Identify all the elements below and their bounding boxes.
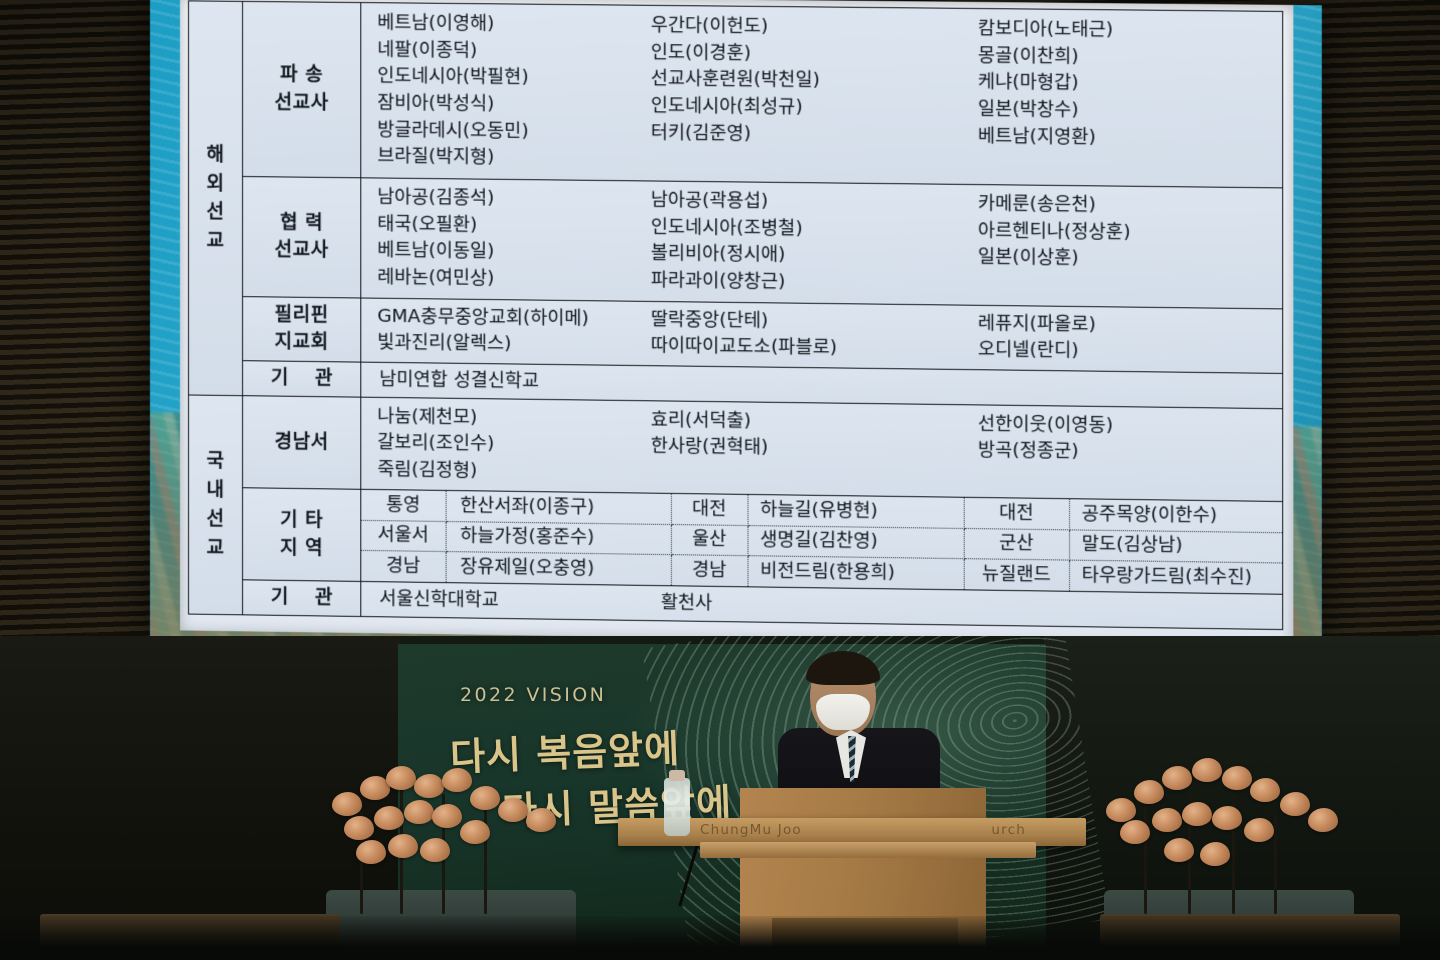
category-line-2: 선교사 — [275, 239, 329, 262]
list-item: 일본(이상훈) — [978, 245, 1282, 275]
name-column-1: 베트남(이영해) 네팔(이종덕) 인도네시아(박필현) 잠비아(박성식) 방글라… — [361, 10, 642, 173]
region-cell: 군산 — [964, 528, 1069, 560]
region-cell: 경남 — [361, 551, 445, 582]
philippine-branch-names: GMA충무중앙교회(하이메) 빛과진리(알렉스) 딸락중앙(단테) 따이따이교도… — [361, 298, 1283, 374]
list-item: 딸락중앙(단테) — [651, 307, 946, 337]
name-column-2: 남아공(곽용섭) 인도네시아(조병철) 볼리비아(정시애) 파라과이(양창근) — [643, 187, 946, 297]
face-mask-icon — [816, 694, 870, 730]
mission-table: 해 외 선 교 파 송 선교사 — [188, 0, 1283, 630]
mission-table-wrapper: 해 외 선 교 파 송 선교사 — [188, 0, 1283, 630]
list-item: 효리(서덕출) — [651, 407, 946, 437]
region-cell: 대전 — [671, 494, 748, 525]
list-item: 인도네시아(박필현) — [377, 64, 642, 93]
category-line-1: 파 송 — [280, 64, 323, 86]
name-column-3: 캄보디아(노태근) 몽골(이찬희) 케냐(마형갑) 일본(박창수) 베트남(지영… — [946, 16, 1283, 180]
partner-missionary-names: 남아공(김종석) 태국(오필환) 베트남(이동일) 레바논(여민상) 남아공(곽… — [361, 178, 1283, 309]
list-item: 방글라데시(오동민) — [377, 117, 642, 146]
sent-missionary-names: 베트남(이영해) 네팔(이종덕) 인도네시아(박필현) 잠비아(박성식) 방글라… — [361, 3, 1283, 188]
group-label-domestic: 국 내 선 교 — [189, 395, 243, 615]
church-cell: 공주목양(이한수) — [1069, 499, 1282, 532]
category-line-2: 지교회 — [275, 331, 329, 354]
category-gyeongnamseo: 경남서 — [243, 396, 361, 490]
church-cell: 하늘가정(홍준수) — [446, 521, 671, 555]
list-item: 파라과이(양창근) — [651, 268, 946, 298]
list-item: 베트남(이영해) — [377, 10, 642, 39]
church-cell: 하늘길(유병현) — [748, 495, 964, 528]
table-row: 국 내 선 교 경남서 나눔(제천모) — [189, 395, 1283, 502]
name-column-1: 나눔(제천모) 갈보리(조인수) 죽림(김정형) — [361, 403, 642, 487]
region-cell: 뉴질랜드 — [964, 559, 1069, 591]
list-item: 일본(박창수) — [978, 96, 1282, 126]
list-item: 네팔(이종덕) — [377, 37, 642, 66]
category-institution-domestic: 기 관 — [243, 580, 361, 617]
list-item: 나눔(제천모) — [377, 403, 642, 433]
list-item: 우간다(이헌도) — [651, 13, 946, 43]
church-cell: 장유제일(오충영) — [446, 552, 671, 585]
list-item: 인도네시아(조병철) — [651, 214, 946, 244]
church-cell: 타우랑가드림(최수진) — [1069, 560, 1282, 593]
church-cell: 말도(김상남) — [1069, 530, 1282, 564]
podium-label-left: ChungMu Joo — [700, 822, 802, 838]
speaker-hair — [806, 651, 880, 685]
name-column-1: GMA충무중앙교회(하이메) 빛과진리(알렉스) — [361, 303, 642, 360]
list-item: 카메룬(송은천) — [978, 191, 1282, 221]
category-line-2: 지 역 — [280, 536, 323, 559]
list-item: 캄보디아(노태근) — [978, 16, 1282, 46]
list-item: 인도(이경훈) — [651, 40, 946, 70]
group-label-domestic-l4: 교 — [189, 533, 242, 563]
banner-vision-text: 2022 VISION — [460, 684, 606, 706]
name-column-3: 레퓨지(파올로) 오디넬(란디) — [946, 310, 1283, 368]
list-item: 한사랑(권혁태) — [651, 434, 946, 465]
list-item: 인도네시아(최성규) — [651, 93, 946, 123]
list-item: 죽림(김정형) — [377, 457, 642, 487]
name-column-2: 효리(서덕출) 한사랑(권혁태) — [643, 407, 946, 491]
list-item: 레퓨지(파올로) — [978, 311, 1282, 341]
category-line-1: 협 력 — [280, 211, 323, 234]
category-line-1: 기 타 — [280, 509, 323, 532]
group-label-overseas-l3: 선 — [189, 198, 242, 227]
church-cell: 생명길(김찬영) — [748, 525, 964, 559]
list-item: 잠비아(박성식) — [377, 90, 642, 119]
category-institution-overseas: 기 관 — [243, 361, 361, 397]
list-item: 활천사 — [661, 591, 1282, 624]
category-line-2: 선교사 — [275, 91, 329, 114]
list-item: 태국(오필환) — [377, 211, 642, 241]
list-item: 오디넬(란디) — [978, 337, 1282, 367]
category-line-1: 경남서 — [275, 430, 329, 453]
table-row: 협 력 선교사 남아공(김종석) 태국(오필환) 베트남(이동일) 레바논( — [189, 176, 1283, 309]
name-column-2: 딸락중앙(단테) 따이따이교도소(파블로) — [643, 307, 946, 364]
region-cell: 대전 — [964, 498, 1069, 530]
water-bottle — [664, 778, 690, 836]
list-item: 선교사훈련원(박천일) — [651, 66, 946, 96]
projection-screen: 해 외 선 교 파 송 선교사 — [150, 0, 1322, 659]
group-label-domestic-l1: 국 — [189, 447, 242, 477]
list-item: 남아공(김종석) — [377, 185, 642, 215]
water-bottle-cap — [669, 770, 685, 781]
list-item: 빛과진리(알렉스) — [377, 330, 642, 360]
list-item: 선한이웃(이영동) — [978, 411, 1282, 442]
list-item: 볼리비아(정시애) — [651, 241, 946, 271]
screenshot-root: 해 외 선 교 파 송 선교사 — [0, 0, 1440, 960]
slide-content-area: 해 외 선 교 파 송 선교사 — [180, 0, 1293, 646]
name-column-1: 남아공(김종석) 태국(오필환) 베트남(이동일) 레바논(여민상) — [361, 184, 642, 294]
other-regions-subgrid: 통영 한산서좌(이종구) 대전 하늘길(유병현) 대전 공주목양(이한수) — [361, 489, 1283, 594]
list-item: 레바논(여민상) — [377, 264, 642, 294]
other-regions-table: 통영 한산서좌(이종구) 대전 하늘길(유병현) 대전 공주목양(이한수) — [361, 490, 1282, 594]
group-label-domestic-l2: 내 — [189, 476, 242, 506]
name-column-2: 우간다(이헌도) 인도(이경훈) 선교사훈련원(박천일) 인도네시아(최성규) … — [643, 13, 946, 176]
list-item: 방곡(정종군) — [978, 438, 1282, 469]
church-cell: 비전드림(한용희) — [748, 556, 964, 589]
group-label-overseas-l1: 해 — [189, 140, 242, 169]
list-item: 남아공(곽용섭) — [651, 188, 946, 218]
group-label-overseas: 해 외 선 교 — [189, 1, 243, 396]
list-item: 케냐(마형갑) — [978, 70, 1282, 100]
stage-area: 2022 VISION 다시 복음앞에 다시 말씀앞에 ChungMu Joo … — [0, 636, 1440, 960]
list-item: 남미연합 성결신학교 — [379, 369, 539, 392]
list-item: 베트남(이동일) — [377, 238, 642, 268]
list-item: 갈보리(조인수) — [377, 430, 642, 460]
group-label-overseas-l2: 외 — [189, 169, 242, 198]
list-item: 터키(김준영) — [651, 120, 946, 150]
podium-shelf — [700, 842, 1036, 858]
group-label-overseas-l4: 교 — [189, 227, 242, 256]
name-column-3: 선한이웃(이영동) 방곡(정종군) — [946, 411, 1283, 496]
region-cell: 울산 — [671, 524, 748, 556]
region-cell: 통영 — [361, 490, 445, 521]
list-item: 브라질(박지형) — [377, 144, 642, 174]
category-line-1: 기 관 — [261, 365, 343, 394]
region-cell: 서울서 — [361, 520, 445, 552]
category-other-regions: 기 타 지 역 — [243, 488, 361, 582]
table-row: 기 타 지 역 통영 한산서좌(이종구) 대전 — [189, 487, 1283, 594]
foreground-shadow-bar — [0, 916, 1440, 960]
category-sent-missionary: 파 송 선교사 — [243, 1, 361, 177]
podium-label-right: urch — [991, 822, 1026, 838]
list-item: 베트남(지영환) — [978, 123, 1282, 153]
church-cell: 한산서좌(이종구) — [446, 491, 671, 524]
name-column-3: 카메룬(송은천) 아르헨티나(정상훈) 일본(이상훈) — [946, 191, 1283, 302]
category-partner-missionary: 협 력 선교사 — [243, 176, 361, 297]
category-line-1: 필리핀 — [275, 303, 329, 326]
category-line-1: 기 관 — [261, 584, 343, 613]
table-row: 해 외 선 교 파 송 선교사 — [189, 1, 1283, 188]
category-philippine-branch: 필리핀 지교회 — [243, 296, 361, 362]
list-item: 따이따이교도소(파블로) — [651, 333, 946, 363]
list-item: 아르헨티나(정상훈) — [978, 218, 1282, 248]
list-item: 서울신학대학교 — [379, 587, 660, 616]
region-cell: 경남 — [671, 555, 748, 586]
group-label-domestic-l3: 선 — [189, 504, 242, 534]
gyeongnamseo-names: 나눔(제천모) 갈보리(조인수) 죽림(김정형) 효리(서덕출) 한사랑(권혁태… — [361, 397, 1283, 501]
list-item: 몽골(이찬희) — [978, 43, 1282, 73]
list-item: GMA충무중앙교회(하이메) — [377, 303, 642, 333]
